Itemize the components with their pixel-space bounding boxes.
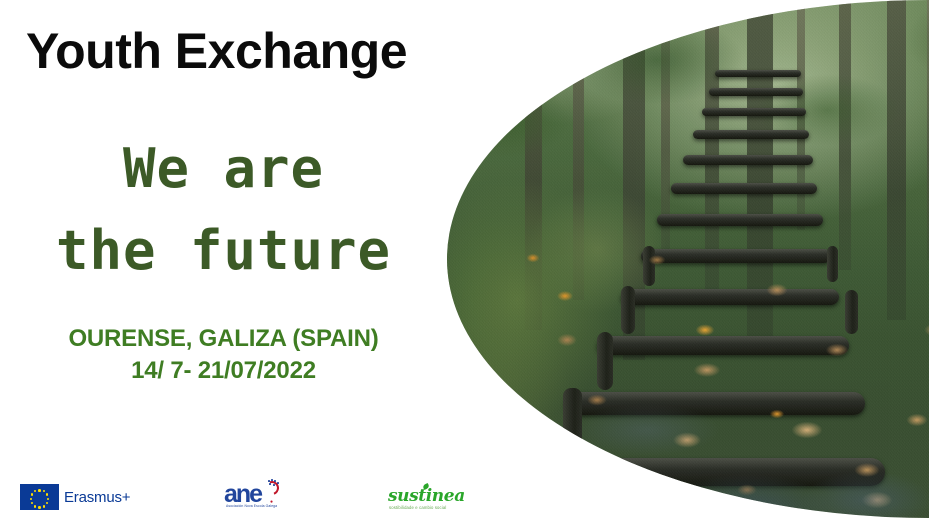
- poster-canvas: Youth Exchange We are the future OURENSE…: [0, 0, 929, 518]
- logo-ane: ane ● Asociación Nova Escola Galega: [224, 482, 284, 512]
- location-text: OURENSE, GALIZA (SPAIN): [0, 325, 447, 353]
- eu-stars: [20, 484, 59, 510]
- photo-vignette: [447, 0, 929, 518]
- photo-content: [447, 0, 929, 518]
- eu-flag-icon: [20, 484, 59, 510]
- headline: We are the future: [0, 128, 447, 292]
- logo-sustinea: sustinea sostibilidade e cambio social: [388, 482, 450, 512]
- erasmus-label: Erasmus+: [64, 489, 130, 506]
- dates-text: 14/ 7- 21/07/2022: [0, 357, 447, 385]
- ane-tagline: Asociación Nova Escola Galega: [226, 504, 277, 508]
- page-title: Youth Exchange: [26, 22, 407, 80]
- logo-erasmus-plus: Erasmus+: [20, 484, 130, 510]
- headline-line-1: We are: [0, 128, 447, 210]
- sustinea-tagline: sostibilidade e cambio social: [389, 505, 446, 510]
- forest-log-stairs-photo: [447, 0, 929, 518]
- headline-line-2: the future: [0, 210, 447, 292]
